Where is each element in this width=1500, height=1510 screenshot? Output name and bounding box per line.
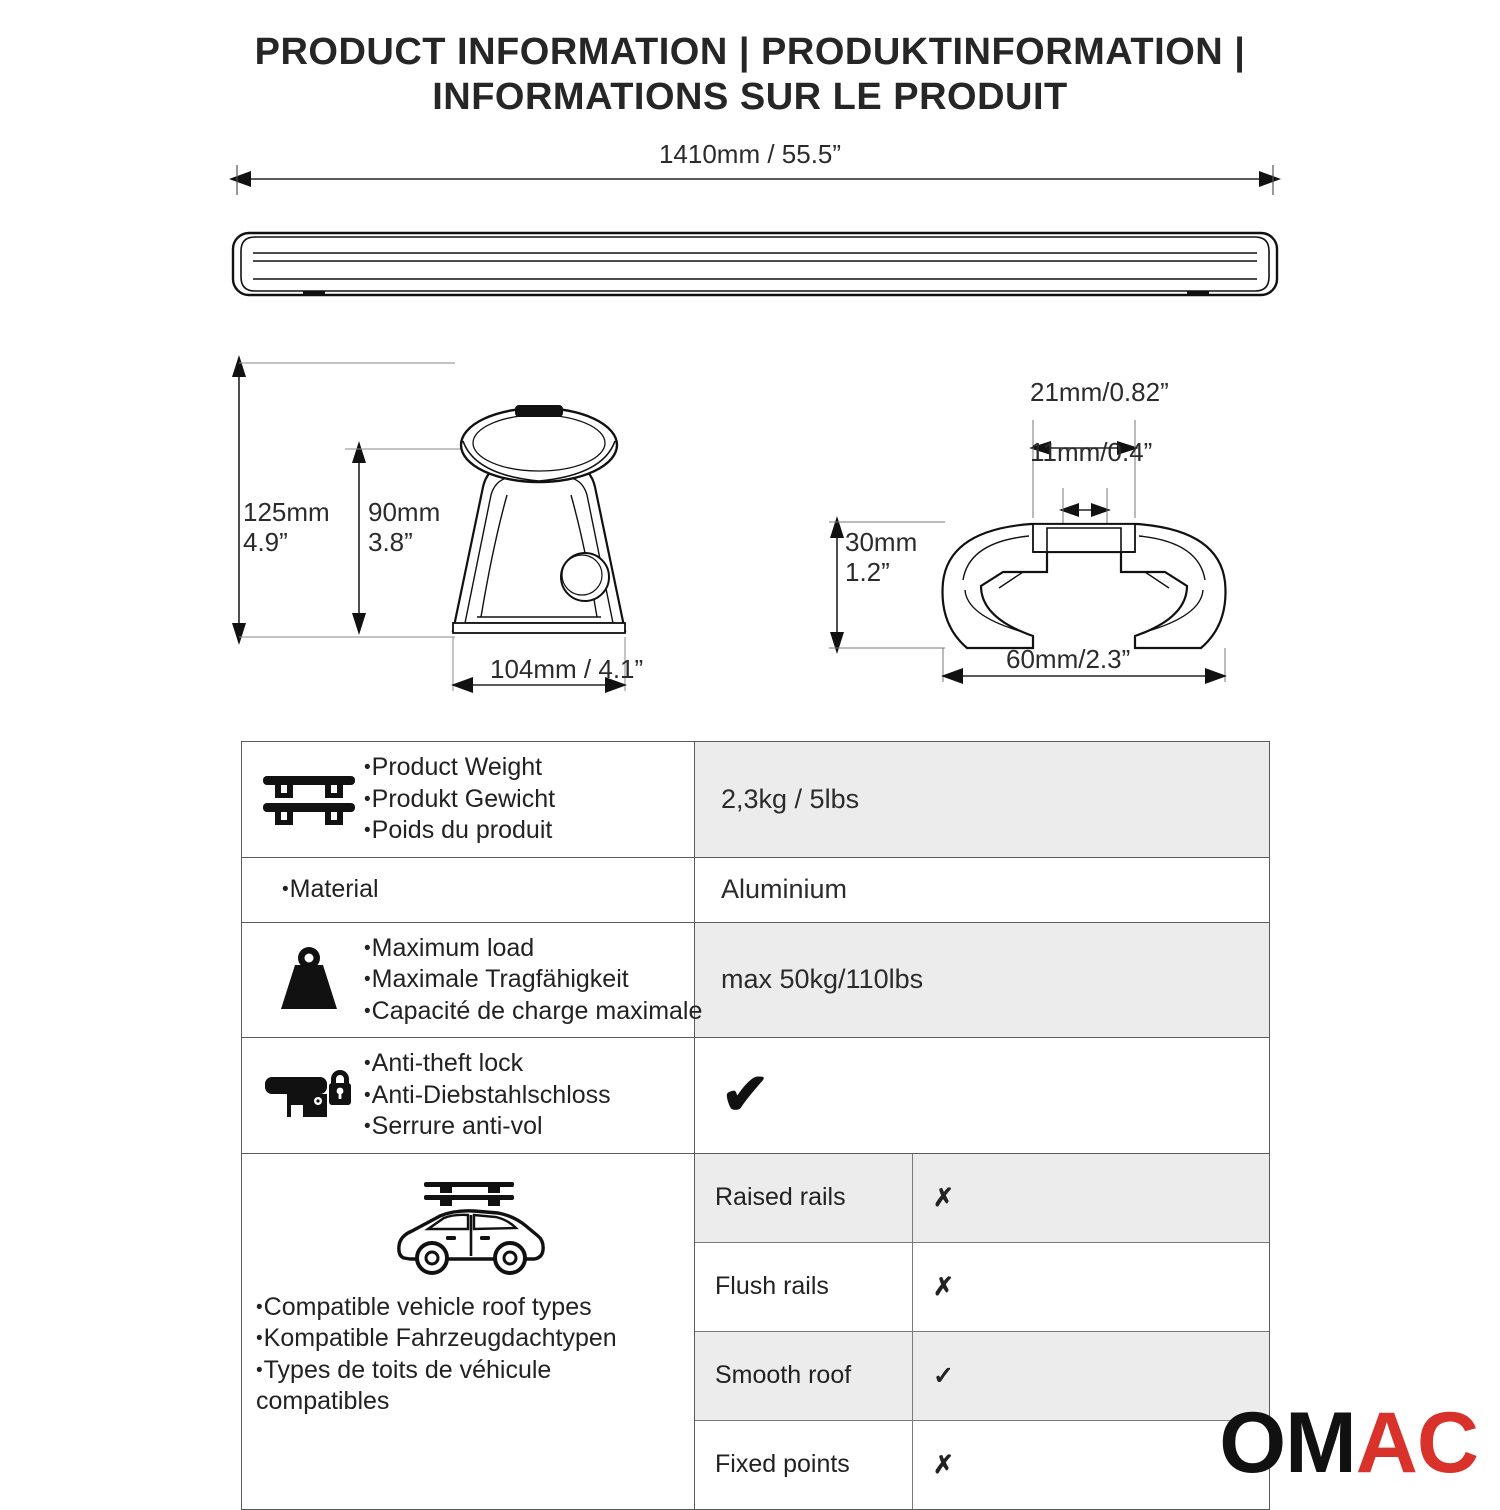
label-line: Maximale Tragfähigkeit: [364, 964, 702, 996]
table-row-material: Material Aluminium: [242, 857, 1270, 922]
label-text-maximum-load: Maximum load Maximale Tragfähigkeit Capa…: [364, 933, 702, 1028]
roof-type-name: Fixed points: [695, 1420, 913, 1509]
roof-type-mark: ✗: [913, 1154, 1270, 1243]
page-title-line-2: INFORMATIONS SUR LE PRODUIT: [0, 75, 1500, 120]
weight-icon: [254, 945, 364, 1015]
label-line: Material: [282, 874, 379, 906]
page-title: PRODUCT INFORMATION | PRODUKTINFORMATION…: [0, 30, 1500, 120]
label-cell-material: Material: [242, 857, 695, 922]
roof-type-row-raised-rails: Raised rails ✗: [695, 1154, 1269, 1243]
label-line: Maximum load: [364, 933, 702, 965]
value-cell-maximum-load: max 50kg/110lbs: [695, 922, 1270, 1038]
roof-types-sub-table: Raised rails ✗ Flush rails ✗ Smooth roof…: [695, 1154, 1269, 1509]
roof-type-name: Smooth roof: [695, 1331, 913, 1420]
label-text-anti-theft-lock: Anti-theft lock Anti-Diebstahlschloss Se…: [364, 1048, 611, 1143]
roof-bars-icon: [254, 770, 364, 828]
label-cell-anti-theft-lock: Anti-theft lock Anti-Diebstahlschloss Se…: [242, 1038, 695, 1154]
table-row-compatible-roof-types: Compatible vehicle roof types Kompatible…: [242, 1153, 1270, 1509]
label-text-compatible-roof-types: Compatible vehicle roof types Kompatible…: [256, 1292, 680, 1418]
roof-type-mark: ✗: [913, 1420, 1270, 1509]
value-cell-material: Aluminium: [695, 857, 1270, 922]
roof-type-name: Raised rails: [695, 1154, 913, 1243]
table-row-anti-theft-lock: Anti-theft lock Anti-Diebstahlschloss Se…: [242, 1038, 1270, 1154]
label-cell-maximum-load: Maximum load Maximale Tragfähigkeit Capa…: [242, 922, 695, 1038]
label-line: Anti-theft lock: [364, 1048, 611, 1080]
table-row-maximum-load: Maximum load Maximale Tragfähigkeit Capa…: [242, 922, 1270, 1038]
foot-width-label: 104mm / 4.1”: [490, 655, 643, 685]
label-line: Produkt Gewicht: [364, 784, 555, 816]
page-title-line-1: PRODUCT INFORMATION | PRODUKTINFORMATION…: [0, 30, 1500, 75]
label-line: Capacité de charge maximale: [364, 996, 702, 1028]
roof-type-row-smooth-roof: Smooth roof ✓: [695, 1331, 1269, 1420]
checkmark-icon: ✔: [721, 1062, 770, 1127]
roof-type-name: Flush rails: [695, 1242, 913, 1331]
label-line: Kompatible Fahrzeugdachtypen: [256, 1323, 680, 1355]
logo-text-black: OM: [1219, 1395, 1356, 1491]
value-cell-product-weight: 2,3kg / 5lbs: [695, 742, 1270, 858]
roof-type-row-fixed-points: Fixed points ✗: [695, 1420, 1269, 1509]
profile-height-label: 30mm 1.2”: [845, 528, 917, 588]
profile-width-label: 60mm/2.3”: [1006, 645, 1130, 675]
roof-type-mark: ✗: [913, 1242, 1270, 1331]
label-text-product-weight: Product Weight Produkt Gewicht Poids du …: [364, 752, 555, 847]
label-line: Anti-Diebstahlschloss: [364, 1080, 611, 1112]
label-cell-product-weight: Product Weight Produkt Gewicht Poids du …: [242, 742, 695, 858]
profile-slot-outer-label: 21mm/0.82”: [1030, 378, 1169, 408]
label-cell-compatible-roof-types: Compatible vehicle roof types Kompatible…: [242, 1153, 695, 1509]
roof-type-mark: ✓: [913, 1331, 1270, 1420]
foot-inner-height-label: 90mm 3.8”: [368, 498, 440, 558]
lock-icon: [254, 1065, 364, 1125]
specification-table: Product Weight Produkt Gewicht Poids du …: [241, 741, 1270, 1510]
roof-bar-side-view-diagram: [225, 165, 1285, 315]
value-cell-anti-theft-lock: ✔: [695, 1038, 1270, 1154]
foot-total-height-label: 125mm 4.9”: [243, 498, 330, 558]
profile-slot-inner-label: 11mm/0.4”: [1030, 438, 1152, 468]
label-text-material: Material: [282, 874, 379, 906]
logo-text-red: AC: [1356, 1395, 1478, 1491]
car-with-rack-icon: [256, 1176, 680, 1280]
label-line: Compatible vehicle roof types: [256, 1292, 680, 1324]
label-line: Types de toits de véhicule compatibles: [256, 1355, 680, 1418]
roof-type-row-flush-rails: Flush rails ✗: [695, 1242, 1269, 1331]
label-line: Serrure anti-vol: [364, 1111, 611, 1143]
roof-types-options-cell: Raised rails ✗ Flush rails ✗ Smooth roof…: [695, 1153, 1270, 1509]
label-line: Product Weight: [364, 752, 555, 784]
label-line: Poids du produit: [364, 815, 555, 847]
omac-logo: OMAC: [1219, 1400, 1478, 1486]
table-row-product-weight: Product Weight Produkt Gewicht Poids du …: [242, 742, 1270, 858]
